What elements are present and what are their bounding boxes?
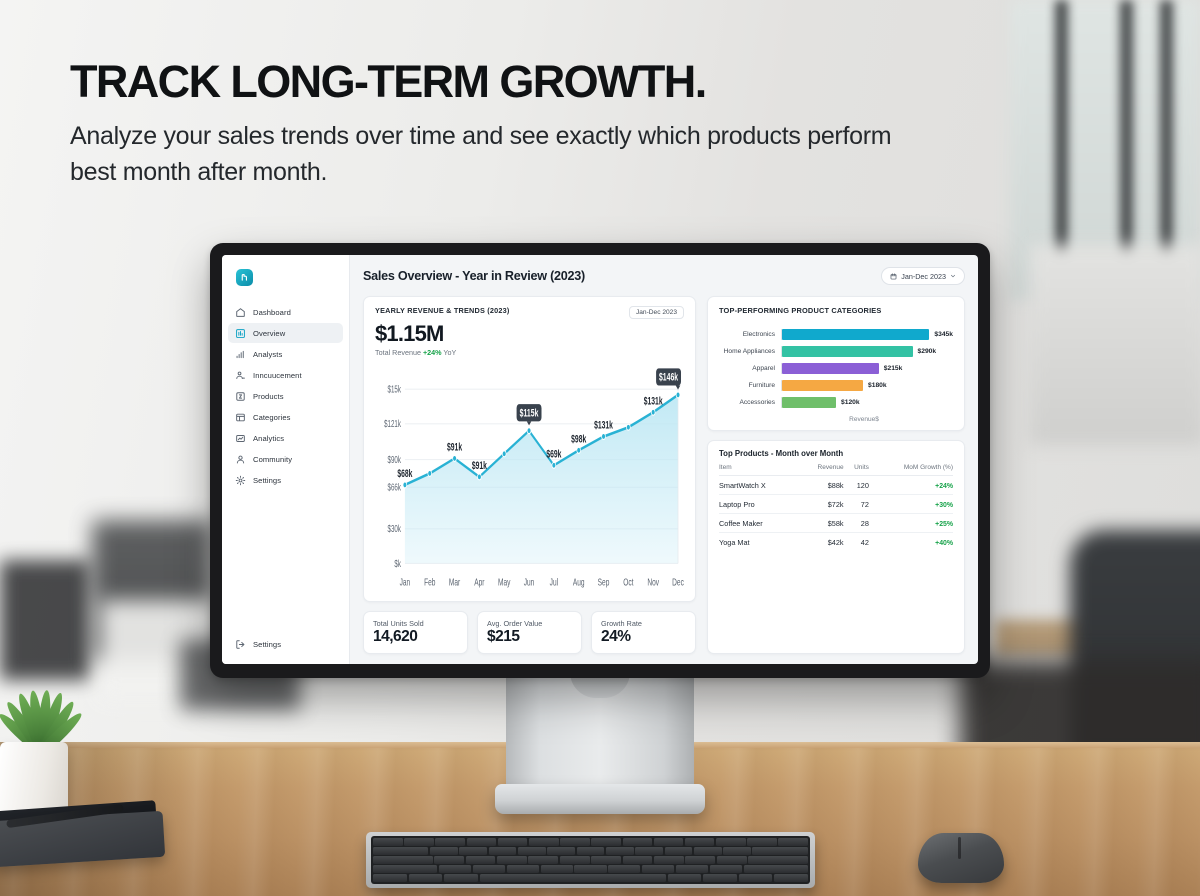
yoy-suffix: YoY: [443, 348, 456, 357]
chart-point-label: $69k: [546, 448, 561, 460]
sidebar-item-label: Inncuucement: [253, 371, 302, 380]
x-axis-tick-label: Mar: [449, 576, 460, 588]
x-axis-tick-label: Dec: [672, 576, 684, 588]
bar-chart-icon: [235, 328, 246, 339]
x-axis-tick-label: Jul: [550, 576, 558, 588]
table-row[interactable]: Laptop Pro$72k72+30%: [719, 495, 953, 514]
chart-data-point[interactable]: [477, 474, 481, 480]
x-axis-tick-label: Nov: [647, 576, 659, 588]
page-title: Sales Overview - Year in Review (2023): [363, 269, 585, 283]
chart-data-point[interactable]: [651, 409, 655, 415]
sidebar-item-label: Products: [253, 392, 284, 401]
sidebar-bottom-settings[interactable]: Settings: [228, 634, 343, 654]
bar-chart-axis-label: Revenue$: [719, 416, 953, 423]
sidebar-item-label: Analysts: [253, 350, 282, 359]
chart-tooltip: $115k: [517, 404, 542, 425]
bar-category-label: Accessories: [719, 399, 781, 406]
chevron-down-icon: [950, 273, 956, 279]
sidebar-item-analysts[interactable]: Analysts: [228, 344, 343, 364]
cell-revenue: $42k: [799, 533, 844, 552]
presentation-user-icon: [235, 370, 246, 381]
kpi-value: $215: [487, 629, 572, 645]
kpi-growth-rate: Growth Rate 24%: [591, 611, 696, 654]
page-header: Sales Overview - Year in Review (2023) J…: [363, 267, 965, 285]
chart-tooltip: $146k: [656, 368, 681, 389]
chart-point-label: $91k: [447, 441, 462, 453]
chart-data-point[interactable]: [428, 470, 432, 476]
bar-value-label: $180k: [868, 382, 887, 389]
logout-icon: [235, 639, 246, 650]
top-categories-card: TOP-PERFORMING PRODUCT CATEGORIES Electr…: [707, 296, 965, 431]
bar-value-label: $215k: [884, 365, 903, 372]
growth-badge: +30%: [935, 502, 953, 509]
top-products-card: Top Products - Month over Month Item Rev…: [707, 440, 965, 654]
bar-chart-title: TOP-PERFORMING PRODUCT CATEGORIES: [719, 306, 953, 315]
x-axis-tick-label: Jan: [400, 576, 411, 588]
yoy-delta: +24%: [423, 348, 442, 357]
sidebar-item-categories[interactable]: Categories: [228, 407, 343, 427]
bar-category-label: Furniture: [719, 382, 781, 389]
home-icon: [235, 307, 246, 318]
background-partition: [1030, 245, 1200, 445]
cell-units: 28: [844, 514, 869, 533]
dashboard-grid: YEARLY REVENUE & TRENDS (2023) Jan-Dec 2…: [363, 296, 965, 654]
chart-point-label: $68k: [397, 468, 412, 480]
cell-revenue: $88k: [799, 476, 844, 495]
kpi-label: Avg. Order Value: [487, 619, 572, 628]
sidebar-item-overview[interactable]: Overview: [228, 323, 343, 343]
cell-item: Coffee Maker: [719, 514, 799, 533]
cell-revenue: $72k: [799, 495, 844, 514]
trend-icon: [235, 433, 246, 444]
y-axis-tick-label: $66k: [388, 482, 402, 493]
y-axis-tick-label: $k: [394, 559, 401, 570]
monitor-stand-base: [495, 784, 705, 814]
total-revenue-subtitle: Total Revenue +24% YoY: [375, 348, 684, 357]
table-title: Top Products - Month over Month: [719, 449, 953, 458]
revenue-card-title: YEARLY REVENUE & TRENDS (2023): [375, 306, 510, 315]
date-range-label: Jan-Dec 2023: [901, 272, 946, 281]
chart-point-label: $131k: [594, 419, 613, 431]
right-column: TOP-PERFORMING PRODUCT CATEGORIES Electr…: [707, 296, 965, 654]
bar-chart-row: Home Appliances$290k: [719, 343, 953, 360]
table-row[interactable]: Yoga Mat$42k42+40%: [719, 533, 953, 552]
cell-growth: +40%: [869, 533, 953, 552]
bar-fill[interactable]: [782, 397, 836, 408]
hero-subline: Analyze your sales trends over time and …: [70, 119, 910, 190]
cell-units: 72: [844, 495, 869, 514]
table-row[interactable]: SmartWatch X$88k120+24%: [719, 476, 953, 495]
chart-data-point[interactable]: [626, 424, 630, 430]
bar-track: $215k: [781, 363, 953, 374]
bar-chart-row: Furniture$180k: [719, 377, 953, 394]
sidebar-item-community[interactable]: Community: [228, 449, 343, 469]
kpi-total-units-sold: Total Units Sold 14,620: [363, 611, 468, 654]
x-axis-tick-label: Aug: [573, 576, 585, 588]
bar-fill[interactable]: [782, 363, 879, 374]
keyboard[interactable]: [366, 832, 815, 888]
cell-revenue: $58k: [799, 514, 844, 533]
sidebar-bottom-label: Settings: [253, 640, 281, 649]
bar-chart-row: Accessories$120k: [719, 394, 953, 411]
revenue-chart-svg: $15k$121k$90k$66k$30k$kJanFebMarAprMayJu…: [375, 360, 684, 595]
calendar-icon: [890, 273, 897, 280]
table-row[interactable]: Coffee Maker$58k28+25%: [719, 514, 953, 533]
box-icon: [235, 391, 246, 402]
hero-block: TRACK LONG-TERM GROWTH.Analyze your sale…: [70, 58, 930, 190]
sidebar-nav: Dashboard Overview Analysts Inncuucement…: [222, 302, 349, 490]
growth-badge: +40%: [935, 540, 953, 547]
sidebar-item-label: Dashboard: [253, 308, 291, 317]
column-header-units: Units: [844, 464, 869, 476]
bar-track: $120k: [781, 397, 953, 408]
chart-point-label: $98k: [571, 433, 586, 445]
bar-chart-rows: Electronics$345kHome Appliances$290kAppa…: [719, 326, 953, 411]
x-axis-tick-label: Jun: [524, 576, 535, 588]
bar-value-label: $290k: [918, 348, 937, 355]
chart-data-point[interactable]: [577, 447, 581, 453]
column-header-revenue: Revenue: [799, 464, 844, 476]
chart-data-point[interactable]: [602, 434, 606, 440]
grid-icon: [235, 412, 246, 423]
cell-units: 120: [844, 476, 869, 495]
date-range-picker[interactable]: Jan-Dec 2023: [881, 267, 965, 285]
app-logo[interactable]: [236, 269, 253, 286]
cell-item: Laptop Pro: [719, 495, 799, 514]
bar-chart-row: Electronics$345k: [719, 326, 953, 343]
cell-units: 42: [844, 533, 869, 552]
chart-data-point[interactable]: [502, 451, 506, 457]
sidebar-item-label: Settings: [253, 476, 281, 485]
mouse[interactable]: [918, 833, 1004, 883]
bar-chart-row: Apparel$215k: [719, 360, 953, 377]
total-revenue-label: Total Revenue: [375, 348, 421, 357]
column-header-item: Item: [719, 464, 799, 476]
chart-area-fill: [405, 395, 678, 564]
bar-value-label: $345k: [934, 331, 953, 338]
x-axis-tick-label: Apr: [474, 576, 484, 588]
sidebar-item-label: Community: [253, 455, 292, 464]
sidebar: Dashboard Overview Analysts Inncuucement…: [222, 255, 350, 664]
total-revenue-value: $1.15M: [375, 323, 684, 345]
bar-track: $180k: [781, 380, 953, 391]
bar-category-label: Home Appliances: [719, 348, 781, 355]
bar-value-label: $120k: [841, 399, 860, 406]
chart-data-point[interactable]: [403, 482, 407, 488]
chart-point-label: $131k: [644, 395, 663, 407]
cell-item: Yoga Mat: [719, 533, 799, 552]
bar-category-label: Electronics: [719, 331, 781, 338]
left-column: YEARLY REVENUE & TRENDS (2023) Jan-Dec 2…: [363, 296, 696, 654]
signal-bars-icon: [235, 349, 246, 360]
y-axis-tick-label: $30k: [388, 524, 402, 535]
chart-data-point[interactable]: [676, 392, 680, 398]
sidebar-item-products[interactable]: Products: [228, 386, 343, 406]
svg-text:$115k: $115k: [520, 407, 539, 419]
x-axis-tick-label: May: [498, 576, 511, 588]
y-axis-tick-label: $121k: [384, 419, 402, 430]
sidebar-item-label: Overview: [253, 329, 285, 338]
sidebar-item-label: Categories: [253, 413, 291, 422]
revenue-trends-card: YEARLY REVENUE & TRENDS (2023) Jan-Dec 2…: [363, 296, 696, 602]
sidebar-item-dashboard[interactable]: Dashboard: [228, 302, 343, 322]
gear-icon: [235, 475, 246, 486]
y-axis-tick-label: $15k: [388, 384, 402, 395]
kpi-label: Growth Rate: [601, 619, 686, 628]
sidebar-item-inncuucement[interactable]: Inncuucement: [228, 365, 343, 385]
user-icon: [235, 454, 246, 465]
kpi-row: Total Units Sold 14,620 Avg. Order Value…: [363, 611, 696, 654]
hero-headline: TRACK LONG-TERM GROWTH.: [70, 58, 930, 105]
chart-data-point[interactable]: [453, 455, 457, 461]
bar-fill[interactable]: [782, 346, 913, 357]
bar-category-label: Apparel: [719, 365, 781, 372]
x-axis-tick-label: Sep: [598, 576, 610, 588]
growth-badge: +24%: [935, 483, 953, 490]
chart-data-point[interactable]: [527, 428, 531, 434]
bar-track: $345k: [781, 329, 953, 340]
sidebar-item-settings[interactable]: Settings: [228, 470, 343, 490]
cell-growth: +30%: [869, 495, 953, 514]
bar-fill[interactable]: [782, 329, 929, 340]
kpi-avg-order-value: Avg. Order Value $215: [477, 611, 582, 654]
y-axis-tick-label: $90k: [388, 455, 402, 466]
top-products-table: Item Revenue Units MoM Growth (%) SmartW…: [719, 464, 953, 551]
plant-leaves: [0, 640, 84, 752]
table-header-row: Item Revenue Units MoM Growth (%): [719, 464, 953, 476]
dashboard-screen: Dashboard Overview Analysts Inncuucement…: [222, 255, 978, 664]
revenue-line-chart: $15k$121k$90k$66k$30k$kJanFebMarAprMayJu…: [375, 360, 684, 595]
monitor: Dashboard Overview Analysts Inncuucement…: [210, 243, 990, 678]
kpi-value: 24%: [601, 629, 686, 645]
x-axis-tick-label: Oct: [623, 576, 634, 588]
cell-growth: +25%: [869, 514, 953, 533]
main-content: Sales Overview - Year in Review (2023) J…: [350, 255, 978, 664]
bar-track: $290k: [781, 346, 953, 357]
cell-growth: +24%: [869, 476, 953, 495]
chart-point-label: $91k: [472, 460, 487, 472]
chart-data-point[interactable]: [552, 462, 556, 468]
cell-item: SmartWatch X: [719, 476, 799, 495]
bar-fill[interactable]: [782, 380, 863, 391]
sidebar-item-label: Analytics: [253, 434, 284, 443]
column-header-growth: MoM Growth (%): [869, 464, 953, 476]
kpi-value: 14,620: [373, 629, 458, 645]
svg-text:$146k: $146k: [659, 371, 679, 383]
x-axis-tick-label: Feb: [424, 576, 435, 588]
kpi-label: Total Units Sold: [373, 619, 458, 628]
revenue-date-chip[interactable]: Jan-Dec 2023: [629, 306, 684, 319]
growth-badge: +25%: [935, 521, 953, 528]
sidebar-item-analytics[interactable]: Analytics: [228, 428, 343, 448]
